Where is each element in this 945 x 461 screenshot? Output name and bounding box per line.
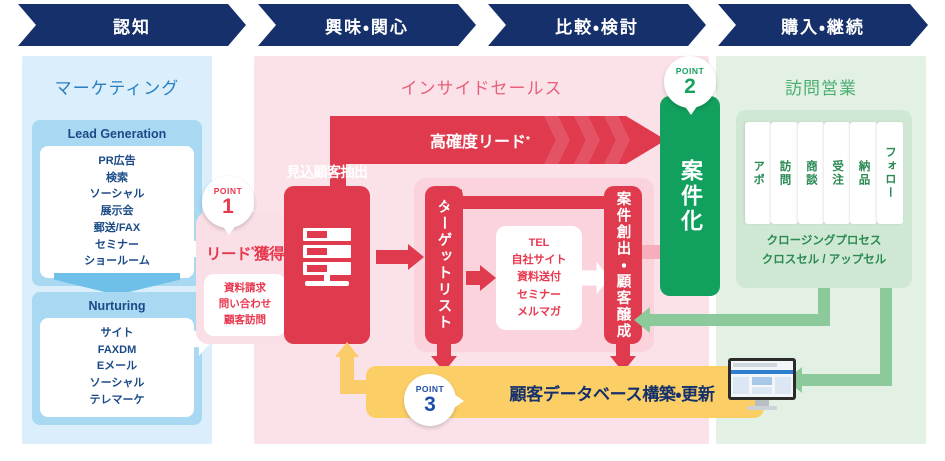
prospect-extraction-label: 見込顧客抽出	[284, 162, 370, 182]
funnel-stage-label: 認知	[113, 13, 151, 38]
point-tail-icon	[454, 394, 464, 408]
lead-acquisition-title: リード*獲得	[196, 242, 294, 264]
list-item: 検索	[40, 170, 194, 187]
point-label: POINT	[214, 187, 242, 196]
hq-lead-asterisk: *	[526, 135, 530, 146]
arrow-head-to-targetlist-icon	[408, 244, 424, 270]
list-item: セミナー	[40, 237, 194, 254]
connector-case-creation-to-targetlist	[462, 196, 612, 209]
list-item: ショールーム	[40, 253, 194, 270]
lead-generation-box: Lead Generation PR広告 検索 ソーシャル 展示会 郵送/FAX…	[32, 120, 202, 286]
connector-fieldsales-to-database	[800, 374, 892, 386]
funnel-stage-label: 比較・検討	[555, 13, 639, 38]
sales-step-card[interactable]: 訪問	[771, 122, 797, 224]
point-label: POINT	[416, 385, 444, 394]
point-label: POINT	[676, 67, 704, 76]
field-sales-title: 訪問営業	[716, 74, 926, 99]
hq-lead-text: 高確度リード	[430, 128, 526, 152]
lead-generation-heading: Lead Generation	[32, 120, 202, 146]
sales-step-card[interactable]: フォロー	[877, 122, 903, 224]
funnel-stage-comparison[interactable]: 比較・検討	[488, 4, 706, 46]
arrow-head-database-to-extraction-icon	[335, 342, 359, 357]
sales-step-card[interactable]: 商談	[798, 122, 824, 224]
nurturing-list: サイト FAXDM Eメール ソーシャル テレマーケ	[40, 318, 194, 417]
list-item: FAXDM	[40, 342, 194, 359]
list-item: PR広告	[40, 153, 194, 170]
lead-acquisition-title-tail: 獲得	[254, 246, 284, 263]
point-badge-1[interactable]: POINT 1	[202, 176, 254, 228]
prospect-extraction-block: 見込顧客抽出	[284, 186, 370, 344]
sales-step-card[interactable]: アポ	[745, 122, 771, 224]
connector-extraction-to-targetlist	[376, 250, 410, 264]
sales-step-card[interactable]: 納品	[850, 122, 876, 224]
funnel-stage-label: 購入・継続	[781, 13, 865, 38]
point-tail-icon	[684, 105, 698, 115]
funnel-stage-label: 興味・関心	[325, 13, 409, 38]
process-diagram: 認知 興味・関心 比較・検討 購入・継続 マーケティング Lead Genera…	[0, 0, 945, 461]
sales-channels-box: TEL 自社サイト 資料送付 セミナー メルマガ	[496, 226, 582, 330]
list-item: ソーシャル	[40, 375, 194, 392]
list-item: Eメール	[40, 358, 194, 375]
connector-fieldsales-down-2	[880, 288, 892, 386]
arrow-head-back-to-targetlist-icon	[446, 189, 462, 215]
list-item: メルマガ	[517, 304, 561, 321]
inside-sales-title: インサイドセールス	[254, 74, 709, 99]
list-item: セミナー	[517, 287, 561, 304]
point-badge-2[interactable]: POINT 2	[664, 56, 716, 108]
case-conversion-block: 案件化	[660, 96, 720, 296]
sales-step-card[interactable]: 受注	[824, 122, 850, 224]
list-item: 資料送付	[517, 269, 561, 286]
arrow-head-to-channels-icon	[480, 265, 496, 291]
connector-database-up	[340, 356, 354, 386]
point-tail-icon	[222, 225, 236, 235]
lead-acquisition-title-main: リード	[206, 246, 251, 263]
funnel-stage-interest[interactable]: 興味・関心	[258, 4, 476, 46]
database-filter-icon	[303, 228, 351, 292]
list-item: 顧客訪問	[204, 313, 286, 329]
customer-database-label: 顧客データベース構築・更新	[462, 366, 762, 418]
list-item: サイト	[40, 325, 194, 342]
list-item: 自社サイト	[512, 252, 567, 269]
closing-line: クロスセル / アップセル	[736, 251, 912, 270]
point-badge-3[interactable]: POINT 3	[404, 374, 456, 426]
list-item: 問い合わせ	[204, 297, 286, 313]
list-item: 展示会	[40, 203, 194, 220]
marketing-title: マーケティング	[22, 74, 212, 99]
field-sales-inner-panel: アポ 訪問 商談 受注 納品 フォロー クロージングプロセス クロスセル / ア…	[736, 110, 912, 288]
list-item: テレマーケ	[40, 392, 194, 409]
nurturing-heading: Nurturing	[32, 292, 202, 318]
point-number: 3	[424, 394, 436, 415]
closing-process-text: クロージングプロセス クロスセル / アップセル	[736, 232, 912, 269]
list-item: TEL	[529, 235, 550, 252]
point-number: 2	[684, 76, 696, 97]
nurturing-box: Nurturing サイト FAXDM Eメール ソーシャル テレマーケ	[32, 292, 202, 425]
funnel-banner-row: 認知 興味・関心 比較・検討 購入・継続	[0, 4, 945, 48]
list-item: 郵送/FAX	[40, 220, 194, 237]
funnel-stage-purchase[interactable]: 購入・継続	[718, 4, 928, 46]
funnel-stage-awareness[interactable]: 認知	[18, 4, 246, 46]
point-number: 1	[222, 196, 234, 217]
lead-acquisition-box: リード*獲得 資料請求 問い合わせ 顧客訪問	[196, 212, 294, 344]
connector-fieldsales-to-case-creation	[648, 314, 830, 326]
arrow-head-fieldsales-to-case-creation-icon	[634, 307, 650, 333]
list-item: ソーシャル	[40, 186, 194, 203]
sales-step-cards: アポ 訪問 商談 受注 納品 フォロー	[745, 122, 903, 224]
case-conversion-label: 案件化	[660, 96, 720, 296]
high-quality-lead-label: 高確度リード*	[330, 116, 630, 164]
monitor-dashboard-icon	[728, 358, 796, 410]
closing-line: クロージングプロセス	[736, 232, 912, 251]
lead-generation-list: PR広告 検索 ソーシャル 展示会 郵送/FAX セミナー ショールーム	[40, 146, 194, 278]
